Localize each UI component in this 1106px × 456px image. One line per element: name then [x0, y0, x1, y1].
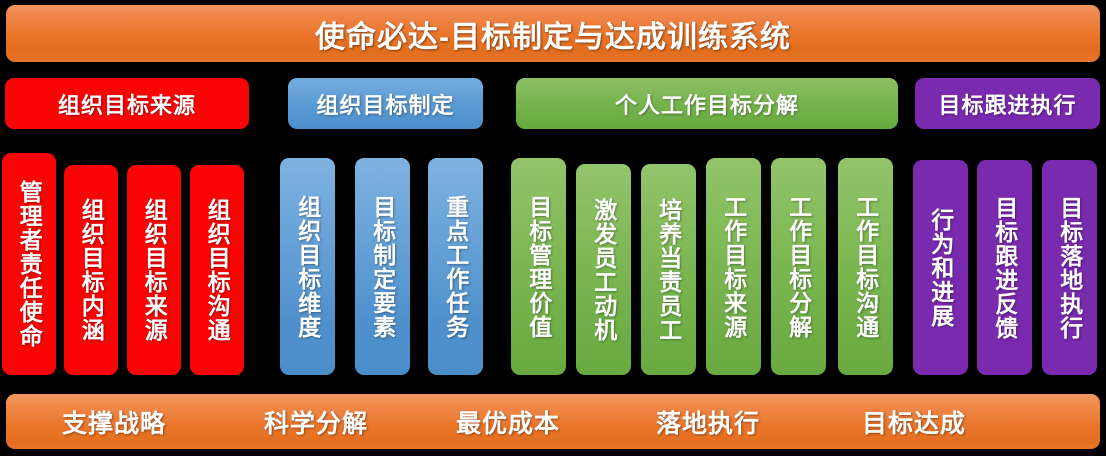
outcome-item[interactable]: 科学分解 [246, 394, 386, 449]
column-item-label: 培养当责员工 [656, 198, 680, 342]
outcome-item[interactable]: 支撑战略 [44, 394, 184, 449]
column-item[interactable]: 组织目标内涵 [64, 165, 118, 375]
column-item-label: 目标落地执行 [1057, 196, 1081, 340]
column-item-label: 组织目标内涵 [79, 198, 103, 342]
column-item-label: 组织目标沟通 [205, 198, 229, 342]
section-header-goal-followup-execution[interactable]: 目标跟进执行 [915, 78, 1100, 129]
column-item[interactable]: 目标跟进反馈 [977, 160, 1032, 375]
column-item-label: 组织目标维度 [295, 195, 319, 339]
section-header-label: 组织目标制定 [316, 88, 454, 120]
column-item-label: 工作目标沟通 [853, 195, 877, 339]
column-item-label: 组织目标来源 [142, 198, 166, 342]
column-item-label: 工作目标分解 [786, 195, 810, 339]
column-item[interactable]: 工作目标来源 [706, 158, 761, 375]
column-item[interactable]: 目标落地执行 [1042, 160, 1097, 375]
outcome-item[interactable]: 落地执行 [638, 394, 778, 449]
section-header-label: 组织目标来源 [58, 88, 196, 120]
section-header-personal-goal-breakdown[interactable]: 个人工作目标分解 [516, 78, 898, 129]
column-item-label: 重点工作任务 [443, 195, 467, 339]
column-item[interactable]: 目标制定要素 [355, 158, 410, 375]
section-header-label: 目标跟进执行 [938, 88, 1076, 120]
column-item[interactable]: 工作目标沟通 [838, 158, 893, 375]
system-title-bar: 使命必达-目标制定与达成训练系统 [6, 5, 1100, 62]
column-item-label: 激发员工动机 [591, 198, 615, 342]
column-item[interactable]: 目标管理价值 [511, 158, 566, 375]
column-item[interactable]: 培养当责员工 [641, 164, 696, 375]
column-item[interactable]: 组织目标来源 [127, 165, 181, 375]
column-item-label: 目标管理价值 [526, 195, 550, 339]
column-item-label: 工作目标来源 [721, 195, 745, 339]
page-title: 使命必达-目标制定与达成训练系统 [315, 12, 791, 56]
outcome-item[interactable]: 目标达成 [844, 394, 984, 449]
column-item[interactable]: 行为和进展 [913, 160, 968, 375]
column-item-label: 目标制定要素 [370, 195, 394, 339]
column-item[interactable]: 重点工作任务 [428, 158, 483, 375]
outcome-summary-bar: 支撑战略 科学分解 最优成本 落地执行 目标达成 [6, 394, 1100, 449]
column-item[interactable]: 工作目标分解 [771, 158, 826, 375]
column-item-label: 目标跟进反馈 [992, 196, 1016, 340]
column-item[interactable]: 组织目标沟通 [190, 165, 244, 375]
column-item[interactable]: 组织目标维度 [280, 158, 335, 375]
section-header-organizational-goal-setting[interactable]: 组织目标制定 [288, 78, 483, 129]
column-item[interactable]: 管理者责任使命 [2, 153, 56, 375]
outcome-item[interactable]: 最优成本 [438, 394, 578, 449]
section-header-label: 个人工作目标分解 [615, 88, 799, 120]
column-item[interactable]: 激发员工动机 [576, 164, 631, 375]
column-item-label: 行为和进展 [928, 208, 952, 328]
section-header-organizational-goal-source[interactable]: 组织目标来源 [5, 78, 249, 129]
column-item-label: 管理者责任使命 [17, 180, 41, 348]
